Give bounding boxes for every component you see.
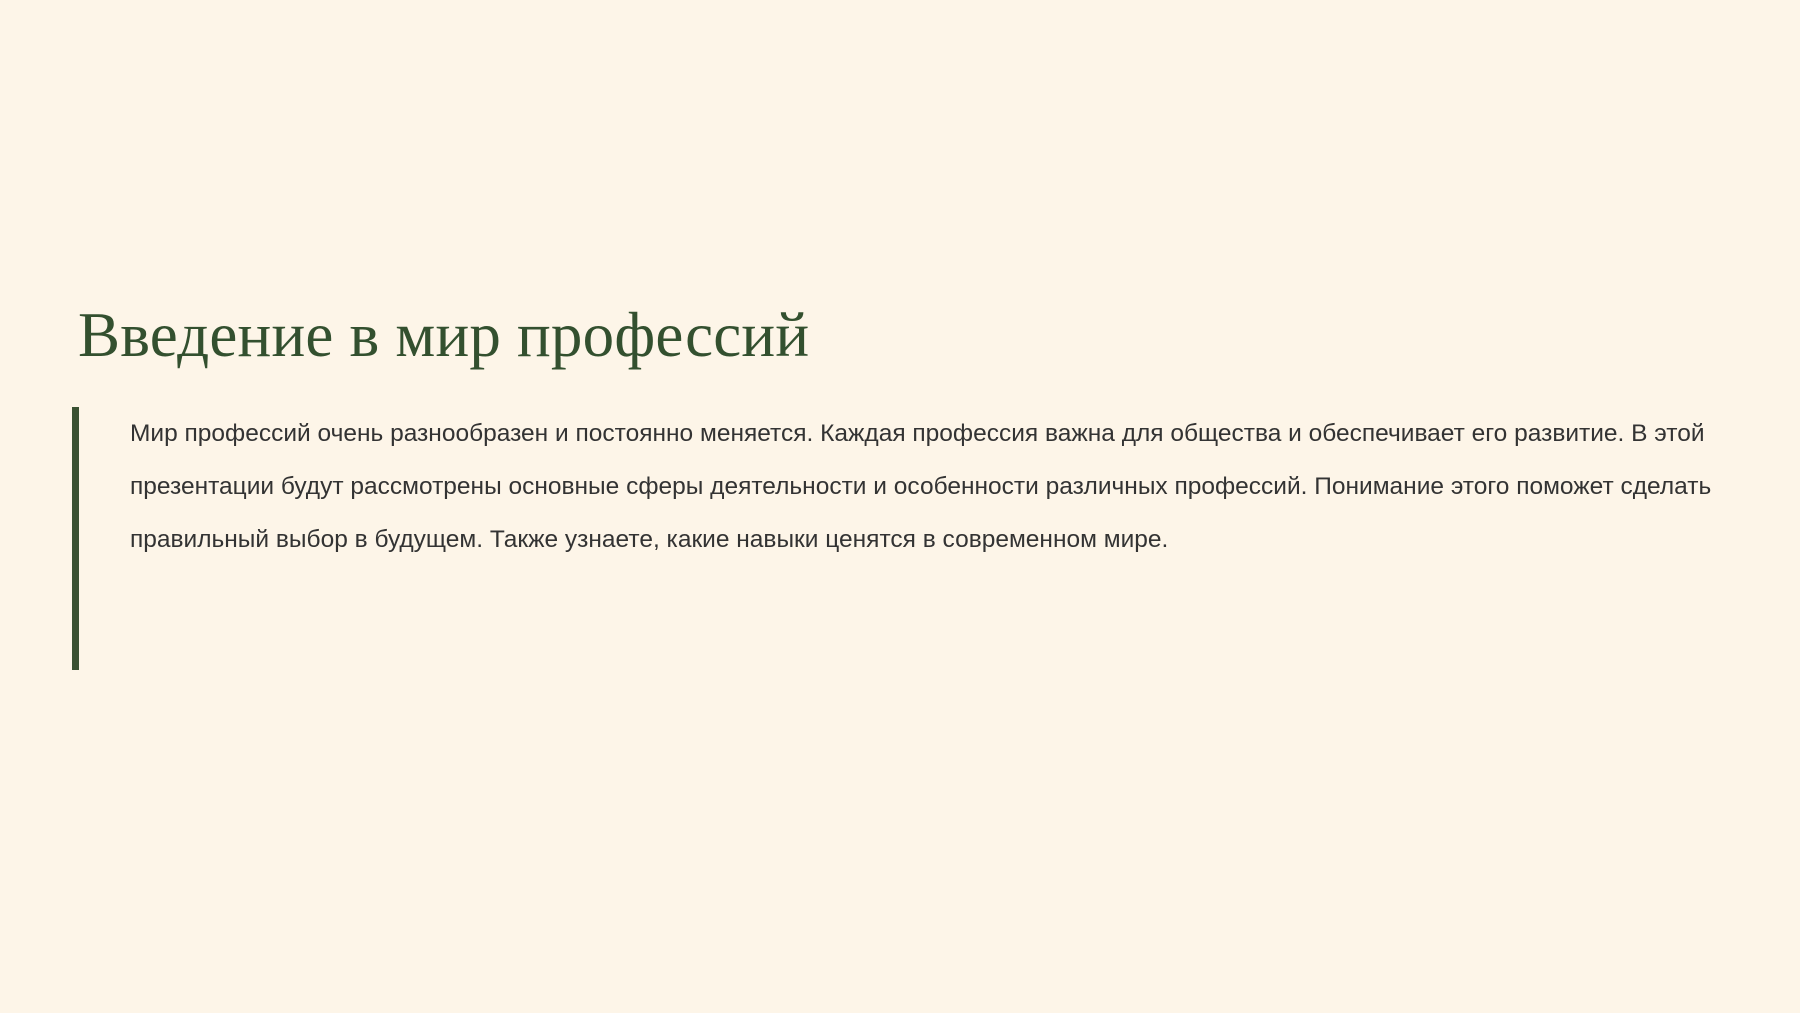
body-text-container: Мир профессий очень разнообразен и посто… bbox=[72, 407, 1732, 566]
page-title: Введение в мир профессий bbox=[78, 300, 1732, 371]
slide-body-paragraph: Мир профессий очень разнообразен и посто… bbox=[130, 407, 1730, 566]
presentation-slide: Введение в мир профессий Мир профессий о… bbox=[0, 0, 1800, 1013]
slide-content-block: Введение в мир профессий Мир профессий о… bbox=[72, 300, 1732, 566]
accent-bar bbox=[72, 407, 79, 670]
